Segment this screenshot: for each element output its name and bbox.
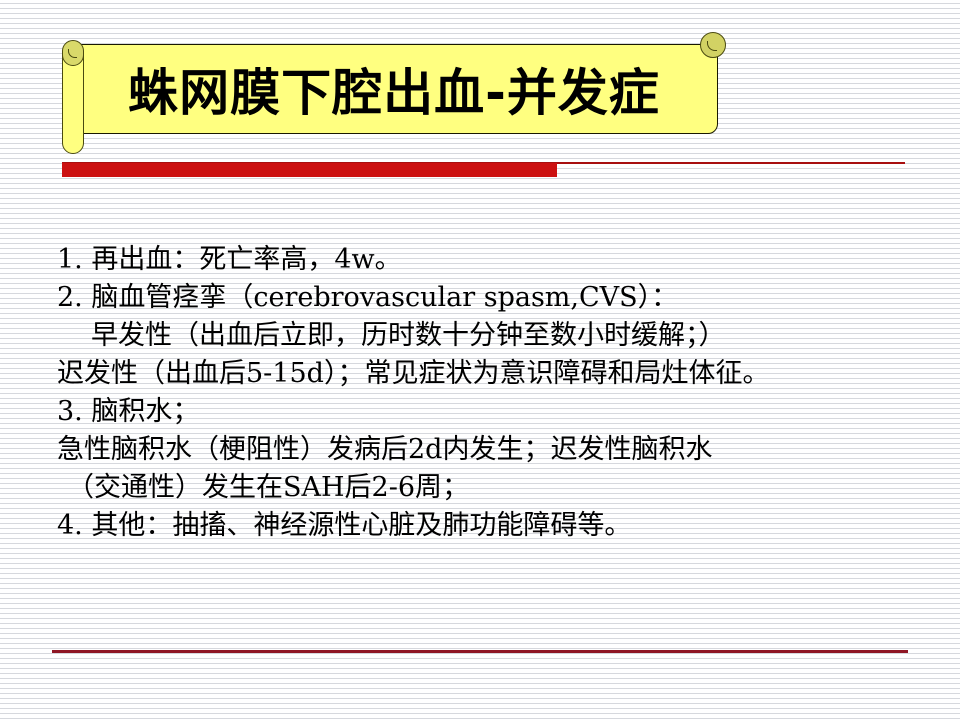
body-content: 1. 再出血：死亡率高，4w。 2. 脑血管痉挛（cerebrovascular… [57,241,937,545]
body-line: 1. 再出血：死亡率高，4w。 [57,241,937,279]
slide-canvas: 蛛网膜下腔出血-并发症 1. 再出血：死亡率高，4w。 2. 脑血管痉挛（cer… [0,0,960,720]
body-line: 3. 脑积水； [57,393,937,431]
page-title: 蛛网膜下腔出血-并发症 [70,44,718,134]
title-divider-thick-bar [62,163,557,177]
body-line: 4. 其他：抽搐、神经源性心脏及肺功能障碍等。 [57,507,937,545]
body-line: （交通性）发生在SAH后2-6周； [57,469,937,507]
body-line: 2. 脑血管痉挛（cerebrovascular spasm,CVS）： [57,279,937,317]
body-line: 早发性（出血后立即，历时数十分钟至数小时缓解；） [57,317,937,355]
title-scroll-banner: 蛛网膜下腔出血-并发症 [56,32,728,140]
footer-rule [52,650,908,653]
body-line: 急性脑积水（梗阻性）发病后2d内发生；迟发性脑积水 [57,431,937,469]
body-line: 迟发性（出血后5-15d）；常见症状为意识障碍和局灶体征。 [57,355,937,393]
